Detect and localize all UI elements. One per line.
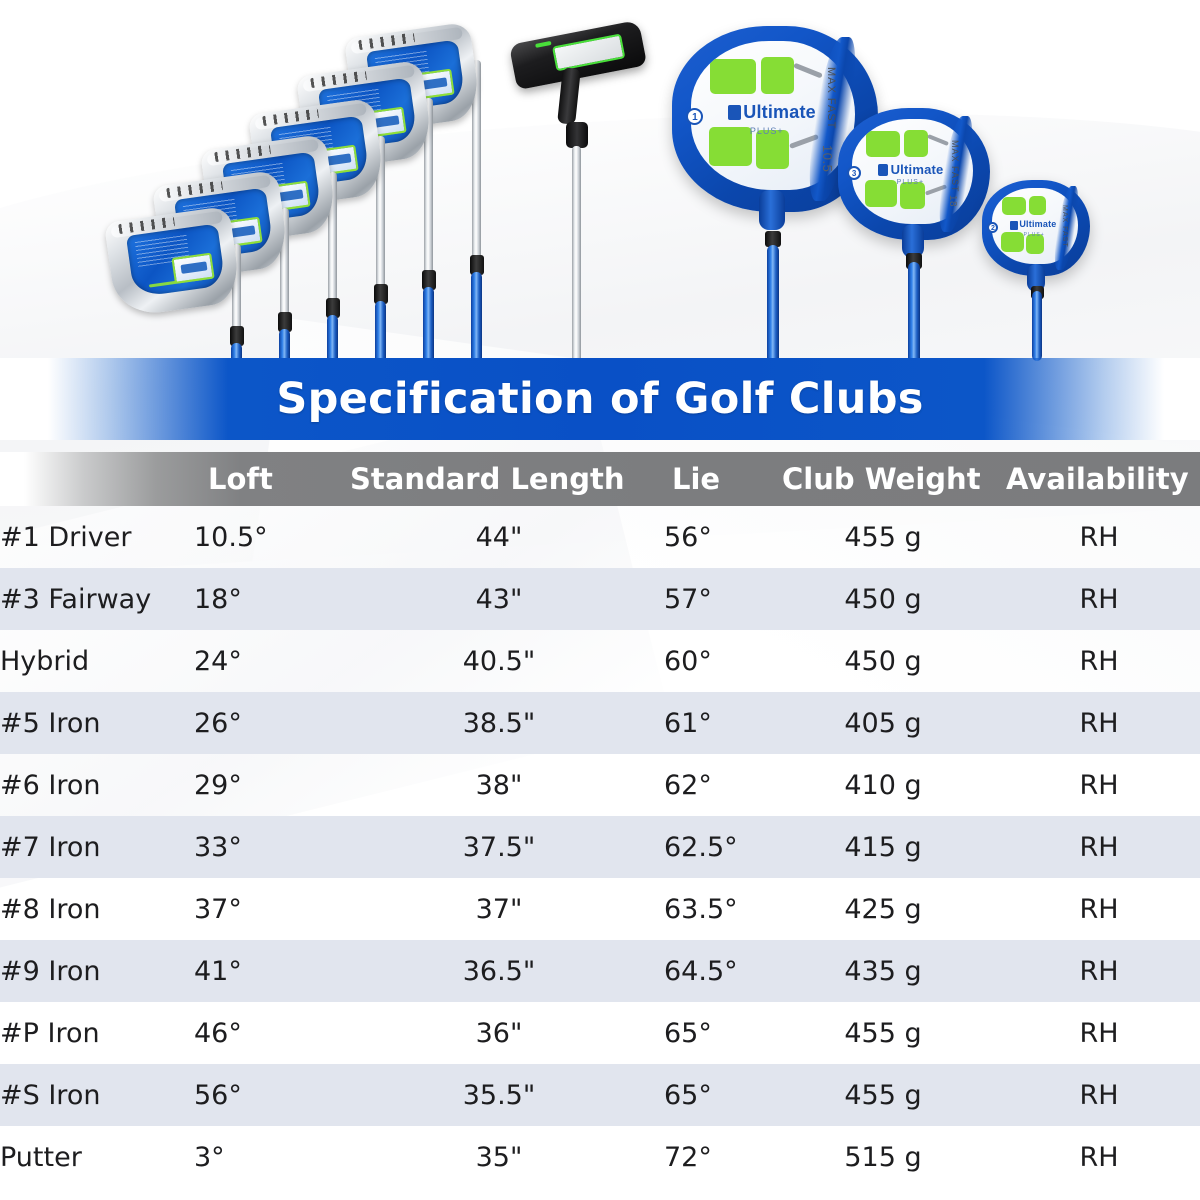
cell-availability: RH [998, 1064, 1200, 1126]
cell-loft: 10.5° [194, 506, 334, 568]
cell-loft: 29° [194, 754, 334, 816]
table-row: #P Iron 46° 36" 65° 455 g RH [0, 1002, 1200, 1064]
cell-club-name: #P Iron [0, 1002, 194, 1064]
cell-lie: 61° [664, 692, 768, 754]
section-title-banner: Specification of Golf Clubs [0, 358, 1200, 440]
column-header-weight: Club Weight [768, 452, 998, 506]
cell-length: 36" [334, 1002, 664, 1064]
cell-availability: RH [998, 1002, 1200, 1064]
cell-weight: 455 g [768, 1064, 998, 1126]
cell-club-name: #5 Iron [0, 692, 194, 754]
table-row: #7 Iron 33° 37.5" 62.5° 415 g RH [0, 816, 1200, 878]
cell-club-name: Putter [0, 1126, 194, 1188]
cell-club-name: #7 Iron [0, 816, 194, 878]
cell-availability: RH [998, 630, 1200, 692]
page-title: Specification of Golf Clubs [276, 374, 923, 424]
cell-availability: RH [998, 816, 1200, 878]
cell-weight: 450 g [768, 568, 998, 630]
cell-loft: 56° [194, 1064, 334, 1126]
cell-weight: 415 g [768, 816, 998, 878]
cell-loft: 26° [194, 692, 334, 754]
cell-weight: 515 g [768, 1126, 998, 1188]
column-header-length: Standard Length [334, 452, 664, 506]
product-hero-image: Ultimate PLUS+ 1 MAX FAST 10.5 Ultimat [0, 0, 1200, 370]
brand-label: Ultimate [1019, 219, 1056, 229]
table-row: #8 Iron 37° 37" 63.5° 425 g RH [0, 878, 1200, 940]
cell-weight: 455 g [768, 506, 998, 568]
cell-weight: 455 g [768, 1002, 998, 1064]
driver-loft-mark: 10.5 [820, 145, 835, 172]
cell-length: 36.5" [334, 940, 664, 1002]
table-row: Putter 3° 35" 72° 515 g RH [0, 1126, 1200, 1188]
table-header-row: Loft Standard Length Lie Club Weight Ava… [0, 452, 1200, 506]
cell-length: 40.5" [334, 630, 664, 692]
cell-length: 43" [334, 568, 664, 630]
cell-length: 37" [334, 878, 664, 940]
fairway-loft-mark: 18 [947, 195, 958, 207]
product-spec-page: Ultimate PLUS+ 1 MAX FAST 10.5 Ultimat [0, 0, 1200, 1200]
cell-availability: RH [998, 1126, 1200, 1188]
cell-club-name: Hybrid [0, 630, 194, 692]
cell-loft: 3° [194, 1126, 334, 1188]
cell-availability: RH [998, 754, 1200, 816]
table-header: Loft Standard Length Lie Club Weight Ava… [0, 452, 1200, 506]
cell-weight: 450 g [768, 630, 998, 692]
cell-length: 35" [334, 1126, 664, 1188]
cell-club-name: #1 Driver [0, 506, 194, 568]
cell-lie: 64.5° [664, 940, 768, 1002]
table-row: #9 Iron 41° 36.5" 64.5° 435 g RH [0, 940, 1200, 1002]
cell-weight: 405 g [768, 692, 998, 754]
cell-lie: 63.5° [664, 878, 768, 940]
table-row: #1 Driver 10.5° 44" 56° 455 g RH [0, 506, 1200, 568]
cell-club-name: #3 Fairway [0, 568, 194, 630]
cell-club-name: #8 Iron [0, 878, 194, 940]
cell-loft: 37° [194, 878, 334, 940]
iron-head [104, 206, 242, 319]
cell-club-name: #6 Iron [0, 754, 194, 816]
cell-loft: 41° [194, 940, 334, 1002]
sub-brand-label: PLUS+ [1024, 232, 1045, 238]
sub-brand-label: PLUS+ [897, 179, 924, 186]
cell-lie: 57° [664, 568, 768, 630]
tech-label: MAX FAST [950, 140, 960, 193]
tech-label: MAX FAST [1061, 205, 1068, 248]
column-header-loft: Loft [194, 452, 334, 506]
cell-weight: 435 g [768, 940, 998, 1002]
fairway-wood-club: Ultimate PLUS+ 3 MAX FAST 18 [838, 108, 990, 240]
cell-availability: RH [998, 568, 1200, 630]
cell-availability: RH [998, 692, 1200, 754]
table-row: #5 Iron 26° 38.5" 61° 405 g RH [0, 692, 1200, 754]
cell-availability: RH [998, 878, 1200, 940]
cell-lie: 65° [664, 1002, 768, 1064]
cell-length: 35.5" [334, 1064, 664, 1126]
cell-lie: 62.5° [664, 816, 768, 878]
sub-brand-label: PLUS+ [750, 126, 784, 136]
cell-length: 44" [334, 506, 664, 568]
cell-weight: 425 g [768, 878, 998, 940]
table-row: #3 Fairway 18° 43" 57° 450 g RH [0, 568, 1200, 630]
cell-loft: 18° [194, 568, 334, 630]
hybrid-club: Ultimate PLUS+ 2 MAX FAST [982, 180, 1090, 276]
table-row: Hybrid 24° 40.5" 60° 450 g RH [0, 630, 1200, 692]
cell-lie: 72° [664, 1126, 768, 1188]
cell-loft: 33° [194, 816, 334, 878]
cell-length: 37.5" [334, 816, 664, 878]
cell-length: 38" [334, 754, 664, 816]
cell-lie: 65° [664, 1064, 768, 1126]
column-header-lie: Lie [664, 452, 768, 506]
cell-lie: 56° [664, 506, 768, 568]
cell-club-name: #9 Iron [0, 940, 194, 1002]
cell-weight: 410 g [768, 754, 998, 816]
tech-label: MAX FAST [825, 67, 837, 129]
brand-label: Ultimate [743, 102, 816, 123]
cell-loft: 46° [194, 1002, 334, 1064]
cell-lie: 62° [664, 754, 768, 816]
table-body: #1 Driver 10.5° 44" 56° 455 g RH #3 Fair… [0, 506, 1200, 1188]
specification-table: Loft Standard Length Lie Club Weight Ava… [0, 452, 1200, 1188]
cell-length: 38.5" [334, 692, 664, 754]
column-header-club [0, 452, 194, 506]
cell-loft: 24° [194, 630, 334, 692]
cell-availability: RH [998, 506, 1200, 568]
cell-club-name: #S Iron [0, 1064, 194, 1126]
column-header-availability: Availability [998, 452, 1200, 506]
table-row: #6 Iron 29° 38" 62° 410 g RH [0, 754, 1200, 816]
table-row: #S Iron 56° 35.5" 65° 455 g RH [0, 1064, 1200, 1126]
cell-lie: 60° [664, 630, 768, 692]
cell-availability: RH [998, 940, 1200, 1002]
brand-label: Ultimate [891, 162, 944, 177]
